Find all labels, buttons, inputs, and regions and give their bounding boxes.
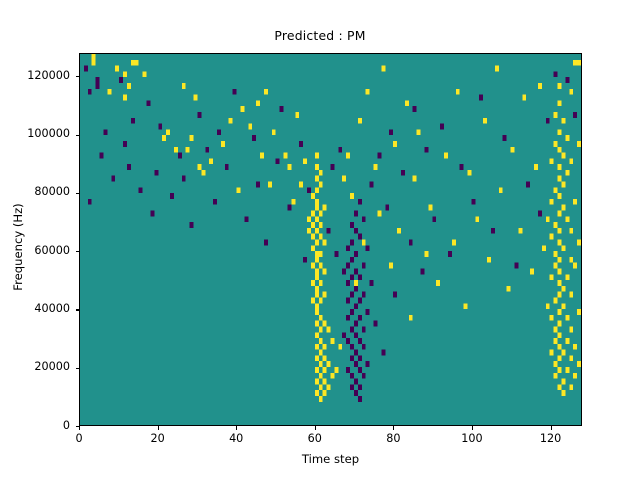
x-axis-tick-label: 80 xyxy=(363,432,423,445)
x-axis-tick xyxy=(236,426,237,430)
x-axis-tick-label: 120 xyxy=(521,432,581,445)
y-axis-tick-label: 80000 xyxy=(0,185,70,198)
x-axis-tick-label: 60 xyxy=(285,432,345,445)
x-axis-tick xyxy=(79,426,80,430)
x-axis-label: Time step xyxy=(79,452,582,466)
x-axis-tick-label: 0 xyxy=(49,432,109,445)
x-axis-tick xyxy=(315,426,316,430)
y-axis-tick-label: 100000 xyxy=(0,127,70,140)
heatmap-axes xyxy=(79,53,582,426)
y-axis-tick xyxy=(76,135,80,136)
y-axis-tick-label: 40000 xyxy=(0,302,70,315)
heatmap-image xyxy=(80,54,581,425)
y-axis-tick xyxy=(76,76,80,77)
x-axis-tick xyxy=(472,426,473,430)
x-axis-tick-label: 40 xyxy=(206,432,266,445)
y-axis-tick xyxy=(76,251,80,252)
y-axis-tick-label: 120000 xyxy=(0,69,70,82)
y-axis-tick xyxy=(76,309,80,310)
y-axis-tick-label: 20000 xyxy=(0,360,70,373)
matplotlib-figure: Predicted : PM Time step Frequency (Hz) … xyxy=(0,0,640,480)
page-title: Predicted : PM xyxy=(0,28,640,43)
x-axis-tick xyxy=(393,426,394,430)
y-axis-tick-label: 0 xyxy=(0,419,70,432)
x-axis-tick-label: 20 xyxy=(128,432,188,445)
y-axis-tick-label: 60000 xyxy=(0,244,70,257)
y-axis-tick xyxy=(76,193,80,194)
x-axis-tick xyxy=(158,426,159,430)
y-axis-tick xyxy=(76,368,80,369)
x-axis-tick xyxy=(551,426,552,430)
y-axis-tick xyxy=(76,426,80,427)
x-axis-tick-label: 100 xyxy=(442,432,502,445)
